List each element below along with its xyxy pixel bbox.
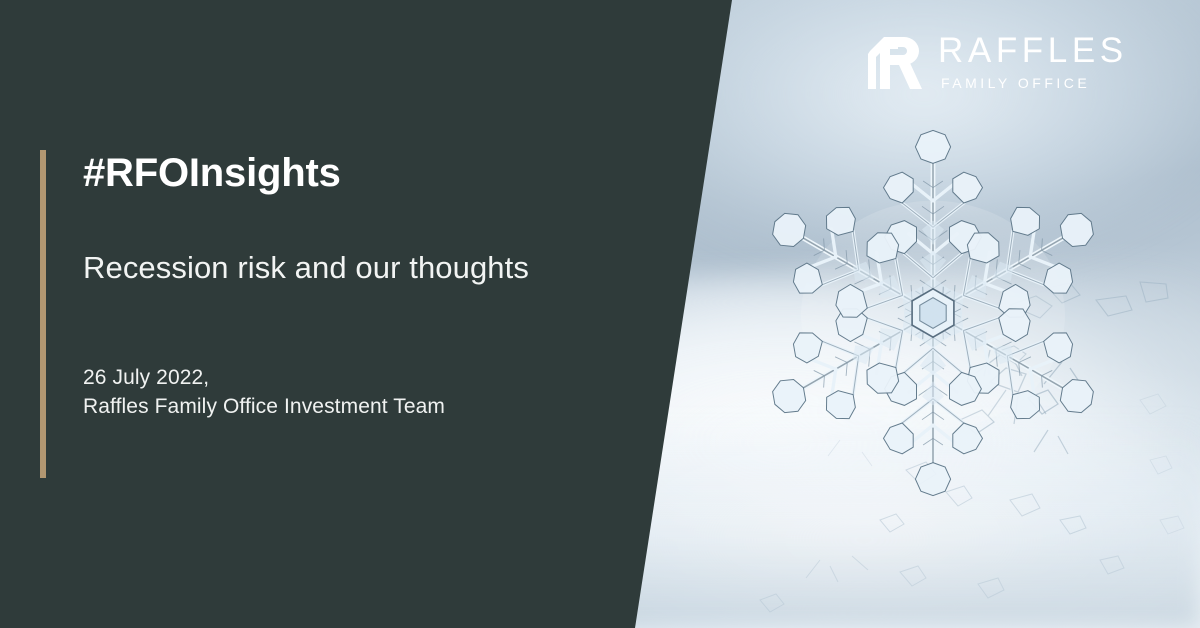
publish-date: 26 July 2022,	[83, 363, 603, 392]
logo-tagline-text: FAMILY OFFICE	[938, 69, 1128, 91]
hashtag-title: #RFOInsights	[83, 150, 603, 196]
logo-name-text: RAFFLES	[938, 33, 1128, 69]
gold-accent-bar	[40, 150, 46, 478]
author-name: Raffles Family Office Investment Team	[83, 392, 603, 421]
article-subtitle: Recession risk and our thoughts	[83, 196, 603, 287]
headline-block: #RFOInsights Recession risk and our thou…	[83, 150, 603, 421]
snow-crystal	[768, 148, 1098, 478]
raffles-r-monogram-icon	[868, 33, 922, 91]
raffles-logo: RAFFLES FAMILY OFFICE	[868, 33, 1128, 91]
byline: 26 July 2022, Raffles Family Office Inve…	[83, 287, 603, 421]
raffles-wordmark: RAFFLES FAMILY OFFICE	[938, 33, 1128, 91]
insights-banner: #RFOInsights Recession risk and our thou…	[0, 0, 1200, 628]
